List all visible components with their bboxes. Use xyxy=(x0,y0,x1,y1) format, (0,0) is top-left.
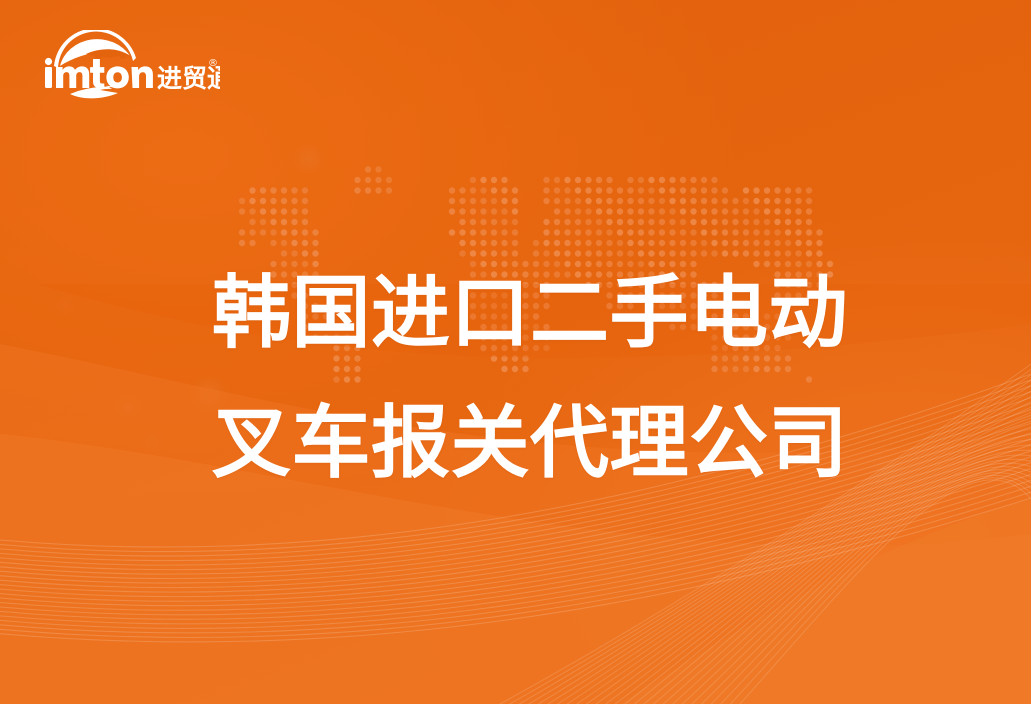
promo-banner: 进贸通 ® 韩国进口二手电动 叉车报关代理公司 xyxy=(0,0,1031,704)
headline-line-1: 韩国进口二手电动 xyxy=(212,248,872,378)
headline-block: 韩国进口二手电动 叉车报关代理公司 xyxy=(212,248,872,508)
bird-swoosh-icon xyxy=(70,86,118,98)
brand-logo[interactable]: 进贸通 ® xyxy=(40,30,220,100)
trademark-icon: ® xyxy=(208,58,218,69)
headline-line-2: 叉车报关代理公司 xyxy=(212,378,872,508)
